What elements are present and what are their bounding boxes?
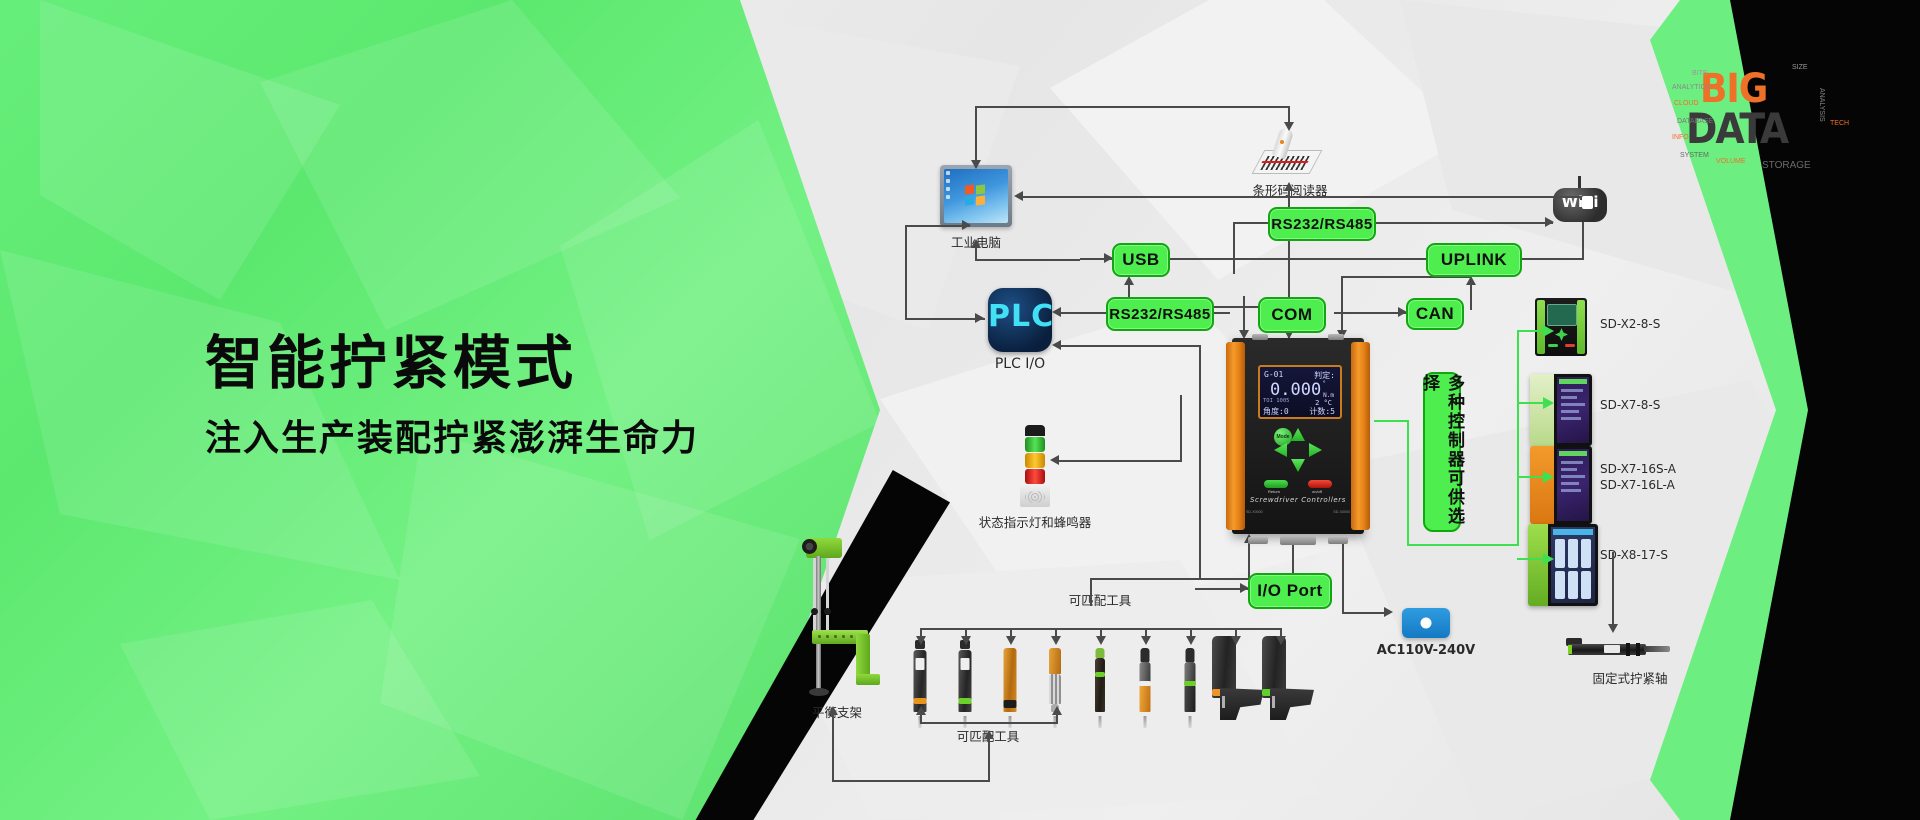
label-sd-x7-8-s: SD-X7-8-S [1600,398,1660,412]
industrial-pc-icon[interactable] [940,165,1012,227]
line-tools-bot-h [920,722,1058,724]
rcx716-screen [1554,446,1592,524]
controller-choice-badge[interactable]: 多种控制器可供选择 [1423,372,1461,532]
arrow-t4 [1051,636,1061,645]
arrow-tools-bot-l [916,706,926,715]
line-plc-ctrl-v [1199,345,1201,580]
line-ctrl-bot-l [1248,540,1250,578]
arrow-tools-bot-r [1052,706,1062,715]
line-rs-up-right [1363,222,1553,224]
lcd-serial: TOI 1005 [1263,398,1290,404]
tool1-sticker [916,658,925,670]
line-barm-v [832,712,834,780]
line-com-can [1334,312,1406,314]
rcx2-green-button [1548,344,1558,347]
line-rs-up-drop [1233,222,1235,274]
rcx817-screen-header [1553,529,1593,535]
arrow-plc-rs [1052,307,1061,317]
badge-uplink[interactable]: UPLINK [1426,243,1522,277]
psu-indicator [1421,618,1432,629]
arrow-pc-down [971,160,981,169]
rcx817-app-3 [1581,539,1591,568]
arrow-t9 [1276,636,1286,645]
arrow-com-up [1284,182,1294,191]
green-trunk-v [1407,420,1409,545]
badge-io-port[interactable]: I/O Port [1248,573,1332,609]
tool-screwdriver-3[interactable] [995,648,1025,720]
barcode-reader-icon[interactable] [1258,128,1322,174]
plc-icon[interactable]: PLC [988,288,1052,352]
rcx817-screen [1548,524,1598,606]
tool4-top [1049,648,1061,674]
power-supply-icon[interactable] [1402,608,1450,638]
tool-screwdriver-2[interactable] [950,648,980,720]
lcd-count: 计数:5 [1309,406,1335,417]
buzzer-grille [1025,491,1045,503]
tool5-cap [1096,648,1105,658]
controller-port-right[interactable] [1328,537,1348,544]
plc-logo-text: PLC [988,299,1052,334]
wordcloud-fleck-10: SIZE [1792,64,1808,71]
tool-pistol-grip-1[interactable] [1212,650,1268,720]
line-uplink-wifi [1582,222,1584,260]
badge-com[interactable]: COM [1258,297,1326,333]
green-br-4 [1517,558,1545,560]
pistol2-grip [1270,688,1314,720]
tower-cap [1025,425,1045,436]
arrow-barcode-down [1284,122,1294,131]
controller-dpad[interactable]: Mode [1274,428,1322,472]
rcx817-app-grid [1555,539,1591,599]
arrow-uplink-in [1466,276,1476,285]
fixed-spindle-icon[interactable] [1558,638,1678,660]
tool-pistol-grip-2[interactable] [1262,650,1318,720]
arrow-green-3 [1543,471,1554,483]
arrow-green-1 [1543,325,1554,337]
arrow-usb-bus [1124,276,1134,285]
green-ctrl-link [1374,420,1408,422]
rcx716-row-4 [1561,482,1579,485]
line-ctrl-bot-r [1342,540,1344,612]
line-wifi-join [1580,196,1582,200]
status-tower-light-icon[interactable] [1025,425,1045,497]
line-plc-rs2 [1061,312,1106,314]
label-sd-x7-16s-a: SD-X7-16S-A [1600,462,1676,476]
line-tools-feed [1090,578,1092,606]
rcx716-screen-header [1559,451,1587,456]
pistol1-grip [1220,688,1264,720]
line-plc-ctrl-h [1061,345,1201,347]
dpad-right-button[interactable] [1309,443,1322,457]
big-data-secondary-word: DATA [1686,104,1787,153]
tower-red-lamp [1025,469,1045,484]
arrow-pc-in-left [962,220,971,230]
controller-sd-x7-16-a[interactable] [1530,446,1592,524]
spindle-output-shaft [1644,646,1670,652]
line-rs-up-left [1233,222,1268,224]
wordcloud-fleck-4: INFO [1672,134,1689,141]
rcx817-app-5 [1568,571,1578,600]
line-tower-h [1058,460,1182,462]
green-br-1 [1517,330,1545,332]
arrow-tower-in [1050,455,1059,465]
headline-block: 智能拧紧模式 注入生产装配拧紧澎湃生命力 [205,330,699,461]
tool6-bit [1144,716,1147,728]
controller-model-tag-right: SD-X0000 [1333,510,1350,514]
banner-canvas: 智能拧紧模式 注入生产装配拧紧澎湃生命力 [0,0,1920,820]
label-sd-x2-8-s: SD-X2-8-S [1600,317,1660,331]
arrow-t1 [916,636,926,645]
arrow-spindle [1608,624,1618,633]
dpad-up-button[interactable] [1291,428,1305,441]
rcx817-app-6 [1581,571,1591,600]
line-pc-wifi [1022,196,1582,198]
line-top-rail [975,106,1290,108]
rcx817-app-4 [1555,571,1565,600]
tool1-collar [914,698,927,704]
rcx2-screen [1547,304,1577,326]
pc-desktop-icons [946,171,950,203]
tool-screwdriver-5[interactable] [1085,648,1115,720]
line-tower-v [1180,395,1182,460]
line-ctrl-bot-lh [1090,578,1250,580]
balance-arm-icon[interactable] [792,538,880,698]
arrow-pc-left [1014,191,1023,201]
page-subtitle: 注入生产装配拧紧澎湃生命力 [205,409,699,461]
tower-green-lamp [1025,437,1045,452]
wordcloud-fleck-7: STORAGE [1762,160,1811,171]
rcx78-row-2 [1561,396,1577,399]
green-br-3 [1517,476,1545,478]
tool5-body [1095,658,1105,712]
wordcloud-fleck-1: ANALYTICS [1672,84,1710,91]
arrow-t7 [1186,636,1196,645]
balance-arm-ball-2 [824,608,831,615]
controller-model-tag-left: SD-X0000 [1246,510,1263,514]
rcx716-side-panel [1530,446,1554,524]
line-plc-left-v [905,225,907,320]
line-psu-h [1342,612,1390,614]
fixed-spindle-label: 固定式拧紧轴 [1570,668,1690,687]
line-can-uplink [1470,282,1472,310]
line-barm-join [988,750,990,780]
rcx78-row-3 [1561,403,1585,406]
arrow-barm-up [828,706,838,715]
tool7-cap [1186,648,1195,662]
wordcloud-fleck-2: CLOUD [1674,100,1699,107]
badge-rs232-485-upper[interactable]: RS232/RS485 [1268,207,1376,241]
line-barm-h [832,780,990,782]
tool-screwdriver-6[interactable] [1130,648,1160,720]
power-button[interactable] [1308,480,1332,488]
tower-amber-lamp [1025,453,1045,468]
line-ctrl-top-l [1243,296,1245,332]
spindle-green-mark [1568,645,1572,654]
tool2-sticker [961,658,970,670]
mode-button[interactable]: Mode [1274,428,1292,446]
return-button[interactable] [1264,480,1288,488]
balance-arm-pole [816,556,821,692]
tool7-lower [1185,684,1196,712]
pistol2-bit [1272,696,1275,708]
rcx817-side-panel [1528,524,1548,606]
rcx817-app-2 [1568,539,1578,568]
balance-arm-ball-1 [811,608,818,615]
rcx716-row-3 [1561,475,1585,478]
tool2-collar [959,698,972,704]
controller-top-mount-r [1328,334,1344,340]
spindle-ring-1 [1626,643,1630,656]
rcx817-app-1 [1555,539,1565,568]
tool6-cap [1141,648,1150,662]
arrow-psu-in [1384,607,1393,617]
label-sd-x7-16l-a: SD-X7-16L-A [1600,478,1675,492]
line-pc-bottom-h [975,259,1080,261]
arrow-plc-ctrl [1052,340,1061,350]
rcx2-dpad [1555,328,1568,341]
rcx78-screen-header [1559,379,1587,384]
wordcloud-fleck-8: ANALYSIS [1818,88,1825,122]
controller-sd-x7-8-s[interactable] [1530,374,1592,446]
arrow-tools-bot-stem [984,730,994,739]
spindle-label-sticker [1604,645,1620,653]
balance-arm-rod-1 [813,558,816,610]
balance-arm-base [809,688,829,696]
lcd-program-id: G-01 [1264,370,1283,379]
wifi-icon[interactable]: WiFi [1553,182,1607,222]
lcd-unit: N.m [1323,392,1334,399]
dpad-down-button[interactable] [1291,459,1305,472]
controller-sd-x8-17-s[interactable] [1528,524,1598,606]
arrow-t2 [961,636,971,645]
rcx78-row-1 [1561,389,1583,392]
green-facet-e [40,0,340,300]
controller-lcd-display: G-01 判定: 0.000 ° N.m 2 °C TOI 1005 角度:0 … [1258,365,1342,419]
tool3-collar [1004,700,1017,708]
arrow-pc-bottom [971,239,981,248]
balance-arm-foot-link [856,674,880,685]
tool7-bit [1189,716,1192,728]
tool6-collar [1139,681,1151,686]
wordcloud-fleck-11: BITS [1692,70,1708,77]
badge-rs232-485-lower[interactable]: RS232/RS485 [1106,297,1214,331]
arrow-t6 [1141,636,1151,645]
tower-buzzer-base [1020,485,1050,507]
spindle-ring-2 [1636,643,1640,656]
pc-screen [944,169,1008,223]
rcx78-side-panel [1530,374,1554,446]
balance-arm-rod-2 [826,558,829,610]
big-data-wordcloud: BIG DATA ANALYTICS CLOUD DATABASE INFO S… [1672,60,1847,182]
lcd-angle: 角度:0 [1263,406,1289,417]
arrow-green-4 [1543,553,1554,565]
line-plc-left [905,318,985,320]
return-button-label: Return [1268,489,1280,494]
rcx2-red-button [1565,344,1575,347]
line-ctrl-top-r [1341,276,1343,332]
arrow-wifi-in [1545,217,1554,227]
rcx2-rail-right [1577,300,1585,354]
green-trunk-h [1407,544,1519,546]
controller-top-mount-l [1252,334,1268,340]
controller-port-center[interactable] [1280,536,1316,545]
line-spindle-v [1612,552,1614,628]
power-supply-label: AC110V-240V [1366,643,1486,658]
rcx716-row-1 [1561,461,1583,464]
label-sd-x8-17-s: SD-X8-17-S [1600,548,1668,562]
lcd-degree-symbol: ° [1322,380,1326,387]
barcode-laser-line [1261,161,1308,163]
windows-logo-icon [965,185,987,207]
green-br-2 [1517,402,1545,404]
rcx716-row-2 [1561,468,1577,471]
lcd-torque-value: 0.000 [1270,380,1321,400]
arrow-plc-in [975,313,984,323]
rcx78-row-4 [1561,410,1579,413]
rcx78-row-5 [1561,417,1581,420]
arrow-t3 [1006,636,1016,645]
status-light-label: 状态指示灯和蜂鸣器 [955,512,1115,531]
page-title: 智能拧紧模式 [205,330,699,397]
line-com-up [1288,186,1290,306]
line-usb-uplink [1166,258,1426,260]
tool7-collar [1184,681,1196,686]
main-controller[interactable]: G-01 判定: 0.000 ° N.m 2 °C TOI 1005 角度:0 … [1224,338,1372,540]
arrow-green-2 [1543,397,1554,409]
pistol1-bit [1222,696,1225,708]
badge-usb[interactable]: USB [1112,243,1170,277]
plc-io-label: PLC I/O [960,356,1080,372]
controller-port-left[interactable] [1248,537,1268,544]
line-pc-top [975,106,977,168]
tool4-barrel [1049,674,1061,704]
arrow-t8 [1231,636,1241,645]
barcode-trigger [1280,140,1284,144]
tool5-collar [1095,672,1105,677]
wordcloud-fleck-6: VOLUME [1716,158,1746,165]
tool5-bit [1099,716,1102,728]
wordcloud-fleck-9: TECH [1830,120,1849,127]
balance-arm-pulley [802,539,817,554]
arrow-t5 [1096,636,1106,645]
tool-screwdriver-7[interactable] [1175,648,1205,720]
wordcloud-fleck-5: SYSTEM [1680,152,1709,159]
controller-brand-text: Screwdriver Controllers [1224,496,1372,504]
power-button-label: on/off [1312,489,1322,494]
rcx78-screen [1554,374,1592,446]
matched-tools-top-label: 可匹配工具 [1040,590,1160,609]
line-plc-up-h [905,225,970,227]
wordcloud-fleck-3: DATABASE [1677,118,1713,125]
badge-can[interactable]: CAN [1406,298,1464,330]
tool6-lower [1140,684,1151,712]
green-spine [1517,330,1519,546]
rcx716-row-5 [1561,489,1581,492]
